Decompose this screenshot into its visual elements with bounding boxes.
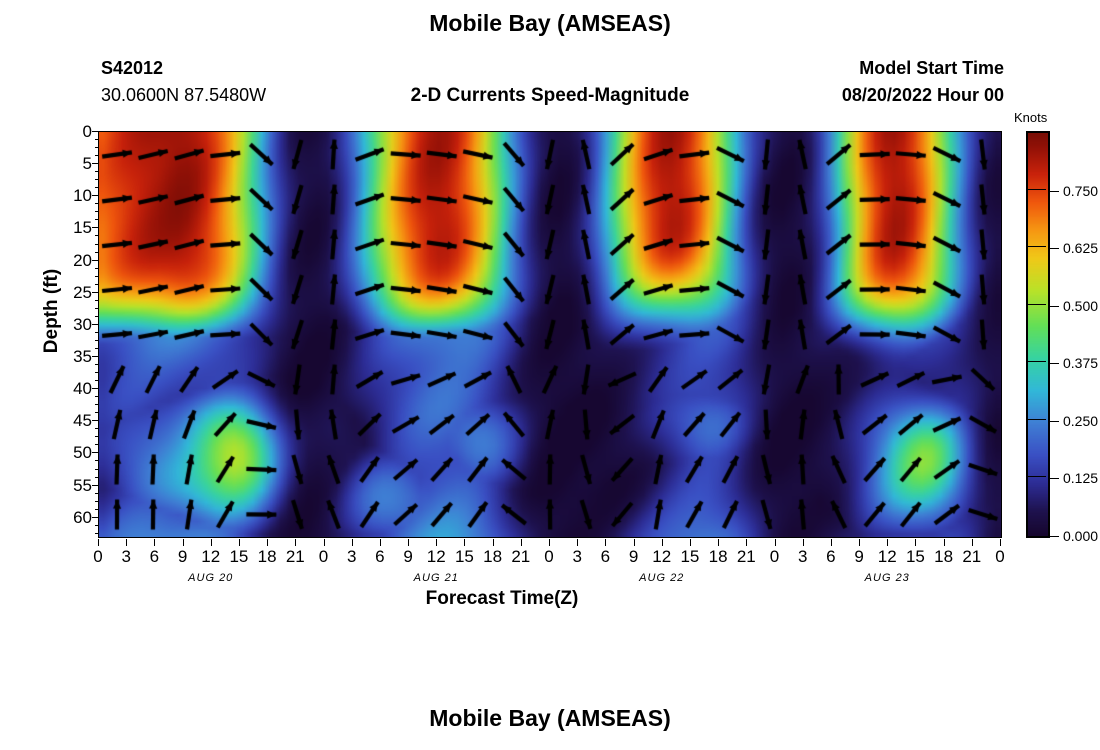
y-axis-tick-label: 20	[50, 251, 92, 271]
colorbar-divider	[1026, 476, 1046, 477]
x-axis-tick-label: 6	[590, 547, 620, 567]
x-axis-tick-label: 15	[900, 547, 930, 567]
x-axis-tick-mark	[126, 539, 127, 546]
x-axis-tick-label: 15	[675, 547, 705, 567]
colorbar-tick-mark	[1050, 478, 1059, 479]
x-axis-tick-mark	[915, 539, 916, 546]
model-start-time-value: 08/20/2022 Hour 00	[0, 85, 1004, 106]
x-axis-day-label: AUG 21	[376, 572, 496, 584]
colorbar-tick-mark	[1050, 363, 1059, 364]
x-axis-tick-mark	[183, 539, 184, 546]
colorbar-divider	[1026, 246, 1046, 247]
x-axis-tick-mark	[662, 539, 663, 546]
x-axis-tick-mark	[718, 539, 719, 546]
x-axis-tick-mark	[295, 539, 296, 546]
x-axis-tick-mark	[690, 539, 691, 546]
colorbar-tick-mark	[1050, 421, 1059, 422]
colorbar-tick-mark	[1050, 248, 1059, 249]
x-axis-tick-label: 0	[534, 547, 564, 567]
x-axis-tick-label: 6	[816, 547, 846, 567]
x-axis-tick-label: 9	[844, 547, 874, 567]
colorbar-divider	[1026, 361, 1046, 362]
x-axis-tick-label: 21	[506, 547, 536, 567]
x-axis-tick-label: 0	[83, 547, 113, 567]
page-title-top: Mobile Bay (AMSEAS)	[0, 10, 1100, 37]
x-axis-day-label: AUG 22	[602, 572, 722, 584]
x-axis-day-label: AUG 23	[827, 572, 947, 584]
x-axis-tick-label: 3	[111, 547, 141, 567]
colorbar-tick-label: 0.250	[1063, 413, 1100, 429]
x-axis-tick-label: 12	[421, 547, 451, 567]
x-axis-tick-label: 15	[224, 547, 254, 567]
speed-magnitude-field	[99, 132, 1001, 537]
x-axis-label: Forecast Time(Z)	[0, 588, 1004, 610]
x-axis-tick-label: 6	[365, 547, 395, 567]
x-axis-tick-label: 3	[562, 547, 592, 567]
x-axis-day-label: AUG 20	[151, 572, 271, 584]
x-axis-tick-mark	[775, 539, 776, 546]
y-axis-tick-label: 45	[50, 411, 92, 431]
colorbar-units-label: Knots	[1014, 110, 1094, 125]
x-axis-ticks: 0369121518210369121518210369121518210369…	[98, 539, 1002, 585]
colorbar-divider	[1026, 304, 1046, 305]
x-axis-tick-label: 21	[280, 547, 310, 567]
x-axis-tick-mark	[380, 539, 381, 546]
colorbar-tick-label: 0.375	[1063, 355, 1100, 371]
currents-heatmap-plot	[98, 131, 1002, 538]
colorbar-tick-label: 0.750	[1063, 183, 1100, 199]
x-axis-tick-mark	[803, 539, 804, 546]
x-axis-tick-mark	[408, 539, 409, 546]
x-axis-tick-mark	[831, 539, 832, 546]
colorbar-tick-mark	[1050, 191, 1059, 192]
x-axis-tick-mark	[605, 539, 606, 546]
x-axis-tick-mark	[1000, 539, 1001, 546]
colorbar-tick-label: 0.500	[1063, 298, 1100, 314]
y-axis-tick-label: 50	[50, 443, 92, 463]
x-axis-tick-label: 9	[168, 547, 198, 567]
x-axis-tick-label: 12	[196, 547, 226, 567]
x-axis-tick-label: 6	[139, 547, 169, 567]
y-axis-tick-label: 30	[50, 315, 92, 335]
colorbar-tick-mark	[1050, 536, 1059, 537]
x-axis-tick-mark	[859, 539, 860, 546]
x-axis-tick-mark	[239, 539, 240, 546]
x-axis-tick-label: 12	[872, 547, 902, 567]
x-axis-tick-mark	[154, 539, 155, 546]
colorbar-divider	[1026, 189, 1046, 190]
x-axis-tick-label: 21	[731, 547, 761, 567]
x-axis-tick-mark	[211, 539, 212, 546]
y-axis-tick-label: 40	[50, 379, 92, 399]
x-axis-tick-mark	[267, 539, 268, 546]
colorbar-tick-label: 0.000	[1063, 528, 1100, 544]
x-axis-tick-mark	[436, 539, 437, 546]
y-axis-tick-label: 55	[50, 476, 92, 496]
x-axis-tick-mark	[887, 539, 888, 546]
model-start-time-label: Model Start Time	[0, 58, 1004, 79]
x-axis-tick-mark	[944, 539, 945, 546]
colorbar-tick-mark	[1050, 306, 1059, 307]
x-axis-tick-label: 18	[929, 547, 959, 567]
x-axis-tick-mark	[577, 539, 578, 546]
x-axis-tick-label: 3	[337, 547, 367, 567]
x-axis-tick-mark	[972, 539, 973, 546]
x-axis-tick-label: 3	[788, 547, 818, 567]
x-axis-tick-mark	[746, 539, 747, 546]
x-axis-tick-mark	[634, 539, 635, 546]
x-axis-tick-mark	[493, 539, 494, 546]
x-axis-tick-label: 12	[647, 547, 677, 567]
x-axis-tick-mark	[521, 539, 522, 546]
x-axis-tick-mark	[324, 539, 325, 546]
colorbar-tick-label: 0.125	[1063, 470, 1100, 486]
page-title-bottom: Mobile Bay (AMSEAS)	[0, 705, 1100, 732]
x-axis-tick-label: 0	[760, 547, 790, 567]
x-axis-tick-mark	[464, 539, 465, 546]
y-axis-tick-label: 5	[50, 154, 92, 174]
y-axis-tick-label: 15	[50, 218, 92, 238]
x-axis-tick-label: 0	[309, 547, 339, 567]
x-axis-tick-mark	[549, 539, 550, 546]
y-axis-tick-label: 35	[50, 347, 92, 367]
y-axis-tick-label: 25	[50, 283, 92, 303]
x-axis-tick-mark	[98, 539, 99, 546]
x-axis-tick-label: 18	[703, 547, 733, 567]
x-axis-tick-label: 18	[478, 547, 508, 567]
x-axis-tick-label: 18	[252, 547, 282, 567]
x-axis-tick-label: 9	[393, 547, 423, 567]
x-axis-tick-mark	[352, 539, 353, 546]
x-axis-tick-label: 15	[449, 547, 479, 567]
colorbar-divider	[1026, 419, 1046, 420]
y-axis-tick-label: 60	[50, 508, 92, 528]
x-axis-tick-label: 9	[619, 547, 649, 567]
x-axis-tick-label: 0	[985, 547, 1015, 567]
y-axis-tick-label: 10	[50, 186, 92, 206]
x-axis-tick-label: 21	[957, 547, 987, 567]
colorbar-tick-labels: 0.0000.1250.2500.3750.5000.6250.750	[1050, 131, 1100, 538]
colorbar-tick-label: 0.625	[1063, 240, 1100, 256]
y-axis-tick-labels: 051015202530354045505560	[44, 131, 92, 538]
y-axis-tick-label: 0	[50, 122, 92, 142]
